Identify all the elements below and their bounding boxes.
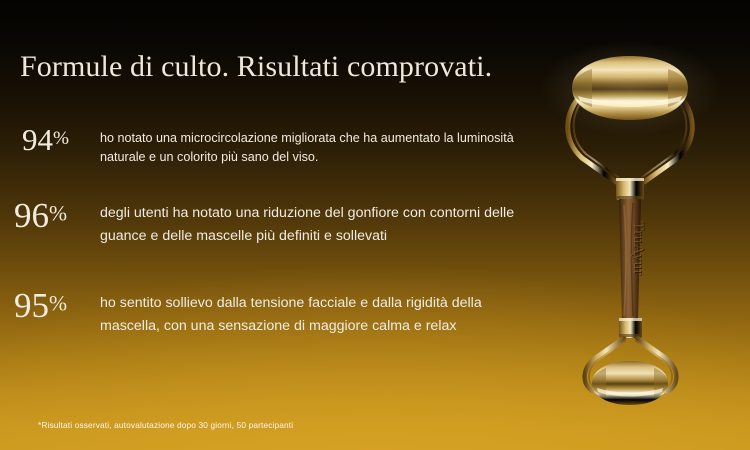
stat-description: ho sentito sollievo dalla tensione facci… — [100, 288, 519, 337]
stat-block: 96% degli utenti ha notato una riduzione… — [14, 198, 519, 247]
footnote-disclaimer: *Risultati osservati, autovalutazione do… — [38, 420, 293, 430]
stat-percentage: 94% — [22, 124, 100, 155]
stat-percentage: 95% — [14, 288, 100, 323]
roller-ferrule-top — [616, 178, 644, 200]
stat-description: ho notato una microcircolazione migliora… — [100, 124, 522, 167]
page-title: Formule di culto. Risultati comprovati. — [20, 50, 492, 83]
brand-engraving-highlight: TruAyur — [630, 221, 646, 275]
stat-value: 95 — [14, 286, 49, 325]
stat-block: 94% ho notato una microcircolazione migl… — [22, 124, 522, 167]
stat-value: 94 — [22, 122, 53, 157]
roller-glow — [540, 40, 720, 136]
percent-sign: % — [49, 292, 67, 316]
percent-sign: % — [53, 128, 69, 149]
stat-description: degli utenti ha notato una riduzione del… — [100, 198, 519, 247]
promo-banner: Formule di culto. Risultati comprovati. … — [0, 0, 750, 450]
percent-sign: % — [49, 202, 67, 226]
roller-head-bottom — [592, 361, 668, 405]
product-image-facial-roller: TruAyur TruAyur — [520, 0, 750, 450]
stat-value: 96 — [14, 196, 49, 235]
stat-percentage: 96% — [14, 198, 100, 233]
stat-block: 95% ho sentito sollievo dalla tensione f… — [14, 288, 519, 337]
roller-ferrule-bottom — [619, 318, 642, 338]
